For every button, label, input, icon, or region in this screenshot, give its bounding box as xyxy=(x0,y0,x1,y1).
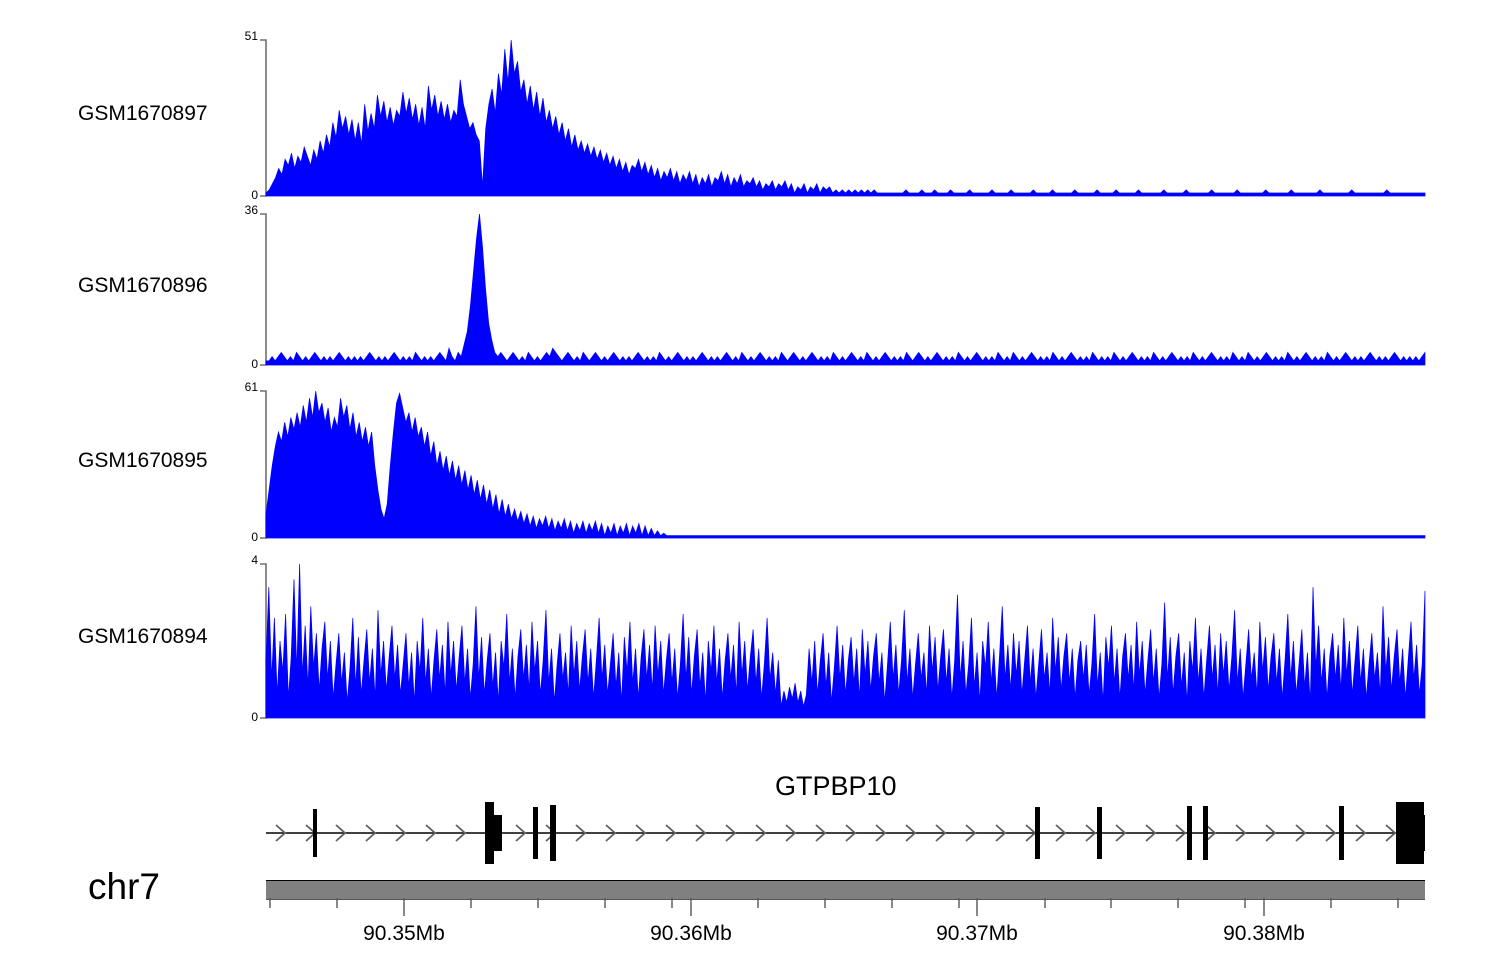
coverage-track xyxy=(252,560,1427,720)
gene-exon[interactable] xyxy=(1035,807,1040,859)
axis-tick-label: 90.35Mb xyxy=(329,922,479,946)
ideogram-bar[interactable] xyxy=(266,880,1425,900)
y-axis-line xyxy=(260,564,266,718)
gene-model-track[interactable] xyxy=(266,800,1425,870)
coverage-track xyxy=(252,36,1427,198)
coverage-area xyxy=(266,564,1425,718)
track-label-gsm1670894: GSM1670894 xyxy=(78,625,208,649)
axis-tick-label: 90.36Mb xyxy=(616,922,766,946)
track-label-gsm1670895: GSM1670895 xyxy=(78,449,208,473)
gene-cds-block[interactable] xyxy=(485,815,502,851)
axis-tick-label: 90.38Mb xyxy=(1189,922,1339,946)
gene-exon[interactable] xyxy=(1187,806,1192,860)
gene-exon[interactable] xyxy=(1097,807,1102,859)
coverage-track xyxy=(252,210,1427,367)
axis-tick-label: 90.37Mb xyxy=(902,922,1052,946)
genome-axis xyxy=(0,898,1500,924)
y-axis-line xyxy=(260,391,266,538)
gene-exon[interactable] xyxy=(1339,806,1344,860)
coverage-area xyxy=(266,214,1425,365)
y-axis-line xyxy=(260,40,266,196)
gene-exon[interactable] xyxy=(313,809,317,857)
track-label-gsm1670896: GSM1670896 xyxy=(78,274,208,298)
coverage-area xyxy=(266,391,1425,538)
track-label-gsm1670897: GSM1670897 xyxy=(78,102,208,126)
y-axis-line xyxy=(260,214,266,365)
gene-exon[interactable] xyxy=(1203,806,1208,860)
gene-exon[interactable] xyxy=(550,805,556,861)
gene-cds-block[interactable] xyxy=(1396,815,1425,851)
coverage-track xyxy=(252,387,1427,540)
coverage-area xyxy=(266,40,1425,196)
genome-browser-viewer: GSM1670897510GSM1670896360GSM1670895610G… xyxy=(0,0,1500,980)
gene-name-label: GTPBP10 xyxy=(775,771,897,802)
gene-exon[interactable] xyxy=(533,807,538,859)
